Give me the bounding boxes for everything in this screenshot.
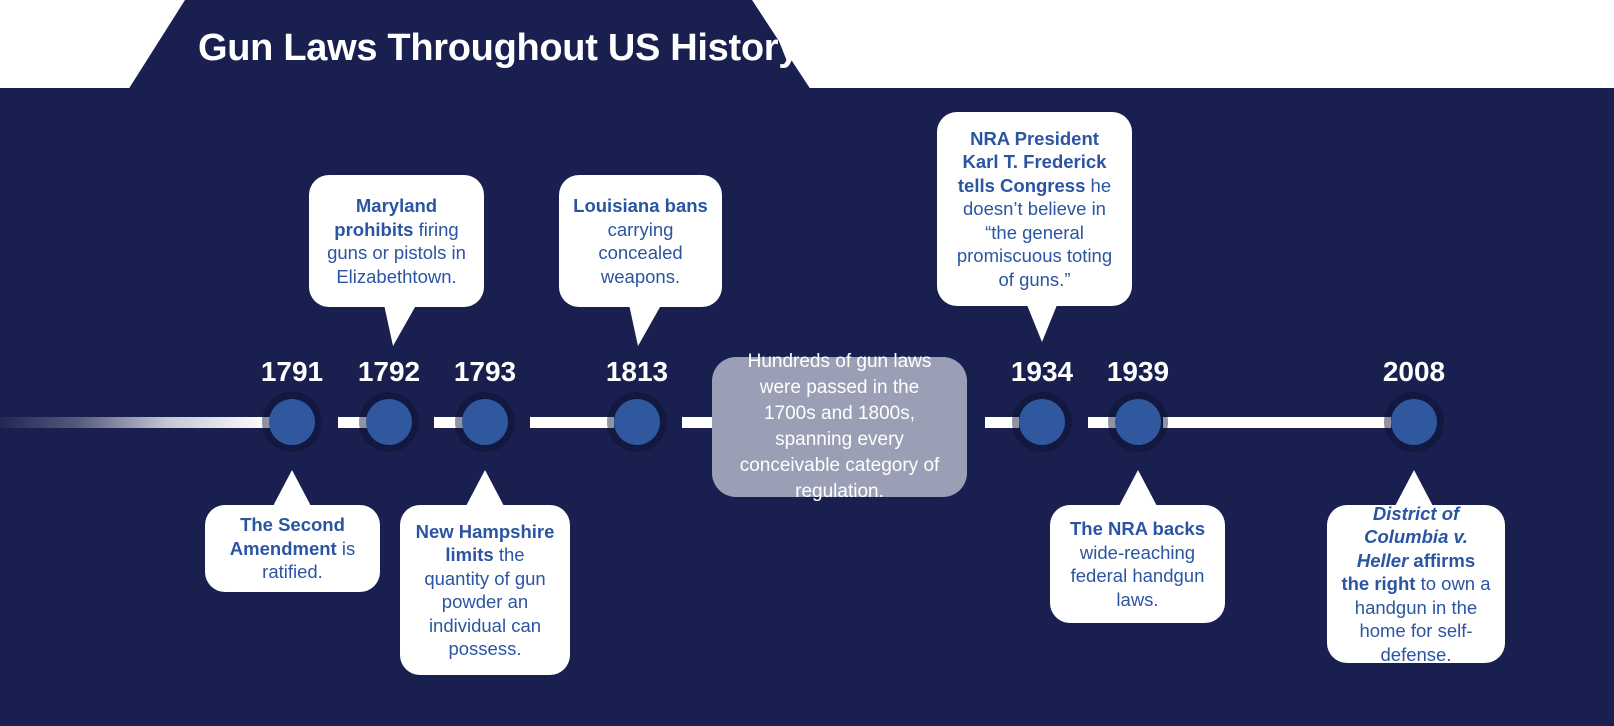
callout-nra-backs[interactable]: The NRA backs wide-reaching federal hand… xyxy=(1050,505,1225,623)
page-title: Gun Laws Throughout US History xyxy=(198,26,799,70)
callout-new-hampshire-tail xyxy=(465,470,505,508)
callout-heller[interactable]: District of Columbia v. Heller affirms t… xyxy=(1327,505,1505,663)
infographic-root: Gun Laws Throughout US History 1791 1792… xyxy=(0,0,1614,726)
note-box-text: Hundreds of gun laws were passed in the … xyxy=(734,349,945,505)
callout-louisiana[interactable]: Louisiana bans carrying concealed weapon… xyxy=(559,175,722,307)
callout-louisiana-rest: carrying concealed weapons. xyxy=(598,219,682,287)
axis-segment xyxy=(682,417,712,428)
timeline-year-1792: 1792 xyxy=(339,356,439,388)
callout-louisiana-tail xyxy=(628,300,664,346)
timeline-dot-1792[interactable] xyxy=(366,399,412,445)
callout-second-amendment-bold: The Second Amendment xyxy=(230,514,345,559)
timeline-year-1813: 1813 xyxy=(587,356,687,388)
timeline-dot-1934[interactable] xyxy=(1019,399,1065,445)
timeline-dot-1793[interactable] xyxy=(462,399,508,445)
callout-maryland-text: Maryland prohibits firing guns or pistol… xyxy=(323,194,470,288)
callout-heller-text: District of Columbia v. Heller affirms t… xyxy=(1341,502,1491,667)
callout-nra-backs-text: The NRA backs wide-reaching federal hand… xyxy=(1064,517,1211,611)
callout-louisiana-bold: Louisiana bans xyxy=(573,195,708,216)
callout-maryland-tail xyxy=(383,300,419,346)
timeline-dot-1813[interactable] xyxy=(614,399,660,445)
callout-nra-president-tail xyxy=(1025,300,1059,342)
timeline-dot-1939[interactable] xyxy=(1115,399,1161,445)
timeline-dot-1791[interactable] xyxy=(269,399,315,445)
axis-segment xyxy=(530,417,614,428)
timeline-year-1791: 1791 xyxy=(242,356,342,388)
timeline-year-1939: 1939 xyxy=(1088,356,1188,388)
callout-nra-president[interactable]: NRA President Karl T. Frederick tells Co… xyxy=(937,112,1132,306)
callout-new-hampshire[interactable]: New Hampshire limits the quantity of gun… xyxy=(400,505,570,675)
callout-second-amendment-text: The Second Amendment is ratified. xyxy=(219,513,366,584)
timeline-year-2008: 2008 xyxy=(1364,356,1464,388)
callout-nra-president-text: NRA President Karl T. Frederick tells Co… xyxy=(951,127,1118,292)
callout-new-hampshire-text: New Hampshire limits the quantity of gun… xyxy=(414,520,556,661)
axis-segment xyxy=(434,417,464,428)
callout-nra-backs-tail xyxy=(1118,470,1158,508)
note-box-hundreds-of-laws: Hundreds of gun laws were passed in the … xyxy=(712,357,967,497)
timeline-year-1934: 1934 xyxy=(992,356,1092,388)
callout-nra-backs-bold: The NRA backs xyxy=(1070,518,1205,539)
callout-maryland[interactable]: Maryland prohibits firing guns or pistol… xyxy=(309,175,484,307)
callout-second-amendment-tail xyxy=(272,470,312,508)
axis-segment xyxy=(1163,417,1391,428)
callout-second-amendment[interactable]: The Second Amendment is ratified. xyxy=(205,505,380,592)
callout-louisiana-text: Louisiana bans carrying concealed weapon… xyxy=(573,194,708,288)
axis-segment xyxy=(985,417,1019,428)
timeline-year-1793: 1793 xyxy=(435,356,535,388)
callout-new-hampshire-bold: New Hampshire limits xyxy=(416,521,555,566)
timeline-dot-2008[interactable] xyxy=(1391,399,1437,445)
axis-segment-fade xyxy=(0,417,270,428)
axis-segment xyxy=(338,417,368,428)
callout-nra-backs-rest: wide-reaching federal handgun laws. xyxy=(1071,542,1205,610)
